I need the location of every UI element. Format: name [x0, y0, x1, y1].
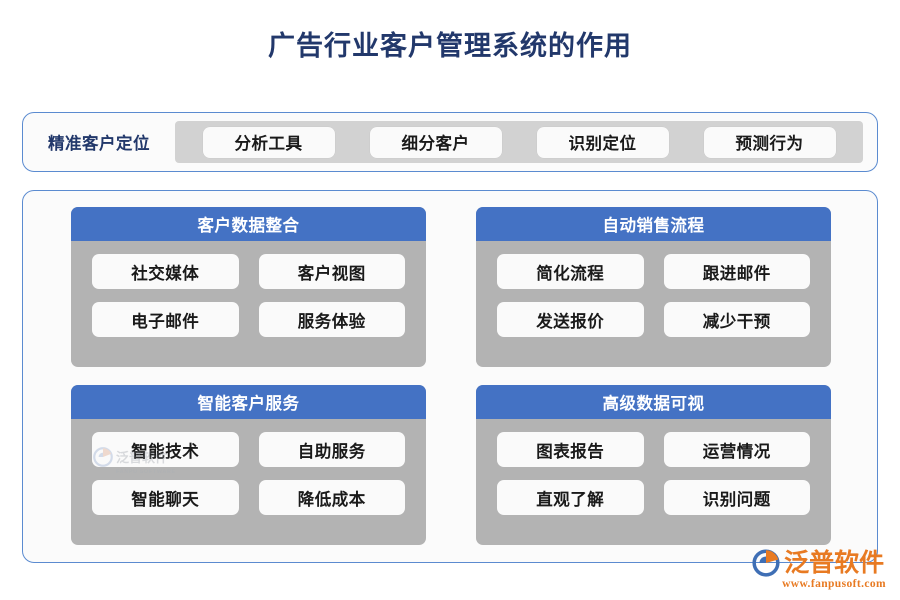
card-chip-email[interactable]: 电子邮件 — [92, 302, 239, 337]
card-header: 客户数据整合 — [71, 207, 426, 241]
precise-targeting-bar: 精准客户定位 分析工具 细分客户 识别定位 预测行为 — [22, 112, 878, 172]
card-chip-intuitive-understanding[interactable]: 直观了解 — [497, 480, 644, 515]
card-automated-sales-process: 自动销售流程 简化流程 跟进邮件 发送报价 减少干预 — [476, 207, 831, 367]
card-chip-reduce-intervention[interactable]: 减少干预 — [664, 302, 811, 337]
card-chip-simplify-process[interactable]: 简化流程 — [497, 254, 644, 289]
card-chip-service-experience[interactable]: 服务体验 — [259, 302, 406, 337]
top-bar-chip-strip: 分析工具 细分客户 识别定位 预测行为 — [175, 121, 863, 163]
card-body: 图表报告 运营情况 直观了解 识别问题 — [476, 419, 831, 545]
card-header: 智能客户服务 — [71, 385, 426, 419]
top-bar-chip-analysis-tools[interactable]: 分析工具 — [203, 127, 335, 158]
fanpu-corner-logo: 泛普软件 www.fanpusoft.com — [752, 549, 886, 590]
main-panel: 客户数据整合 社交媒体 客户视图 电子邮件 服务体验 自动销售流程 简化流程 跟… — [22, 190, 878, 563]
top-bar-chip-segment-customers[interactable]: 细分客户 — [370, 127, 502, 158]
card-chip-reduce-cost[interactable]: 降低成本 — [259, 480, 406, 515]
card-chip-self-service[interactable]: 自助服务 — [259, 432, 406, 467]
page-title: 广告行业客户管理系统的作用 — [0, 0, 900, 60]
fanpu-logo-icon — [752, 549, 780, 577]
card-chip-followup-email[interactable]: 跟进邮件 — [664, 254, 811, 289]
card-chip-identify-problem[interactable]: 识别问题 — [664, 480, 811, 515]
card-chip-intelligent-technology[interactable]: 智能技术 — [92, 432, 239, 467]
card-body: 智能技术 自助服务 智能聊天 降低成本 — [71, 419, 426, 545]
card-advanced-data-visualization: 高级数据可视 图表报告 运营情况 直观了解 识别问题 — [476, 385, 831, 545]
card-body: 社交媒体 客户视图 电子邮件 服务体验 — [71, 241, 426, 367]
top-bar-chip-identify-position[interactable]: 识别定位 — [537, 127, 669, 158]
card-intelligent-customer-service: 智能客户服务 智能技术 自助服务 智能聊天 降低成本 — [71, 385, 426, 545]
card-chip-customer-view[interactable]: 客户视图 — [259, 254, 406, 289]
card-body: 简化流程 跟进邮件 发送报价 减少干预 — [476, 241, 831, 367]
fanpu-logo-url: www.fanpusoft.com — [782, 578, 886, 590]
card-chip-intelligent-chat[interactable]: 智能聊天 — [92, 480, 239, 515]
card-chip-send-quotation[interactable]: 发送报价 — [497, 302, 644, 337]
card-chip-chart-report[interactable]: 图表报告 — [497, 432, 644, 467]
card-header: 高级数据可视 — [476, 385, 831, 419]
card-customer-data-integration: 客户数据整合 社交媒体 客户视图 电子邮件 服务体验 — [71, 207, 426, 367]
top-bar-chip-predict-behavior[interactable]: 预测行为 — [704, 127, 836, 158]
card-header: 自动销售流程 — [476, 207, 831, 241]
card-chip-social-media[interactable]: 社交媒体 — [92, 254, 239, 289]
precise-targeting-label: 精准客户定位 — [23, 130, 175, 154]
card-grid: 客户数据整合 社交媒体 客户视图 电子邮件 服务体验 自动销售流程 简化流程 跟… — [71, 207, 831, 545]
card-chip-operation-status[interactable]: 运营情况 — [664, 432, 811, 467]
fanpu-logo-brand: 泛普软件 — [784, 551, 884, 576]
